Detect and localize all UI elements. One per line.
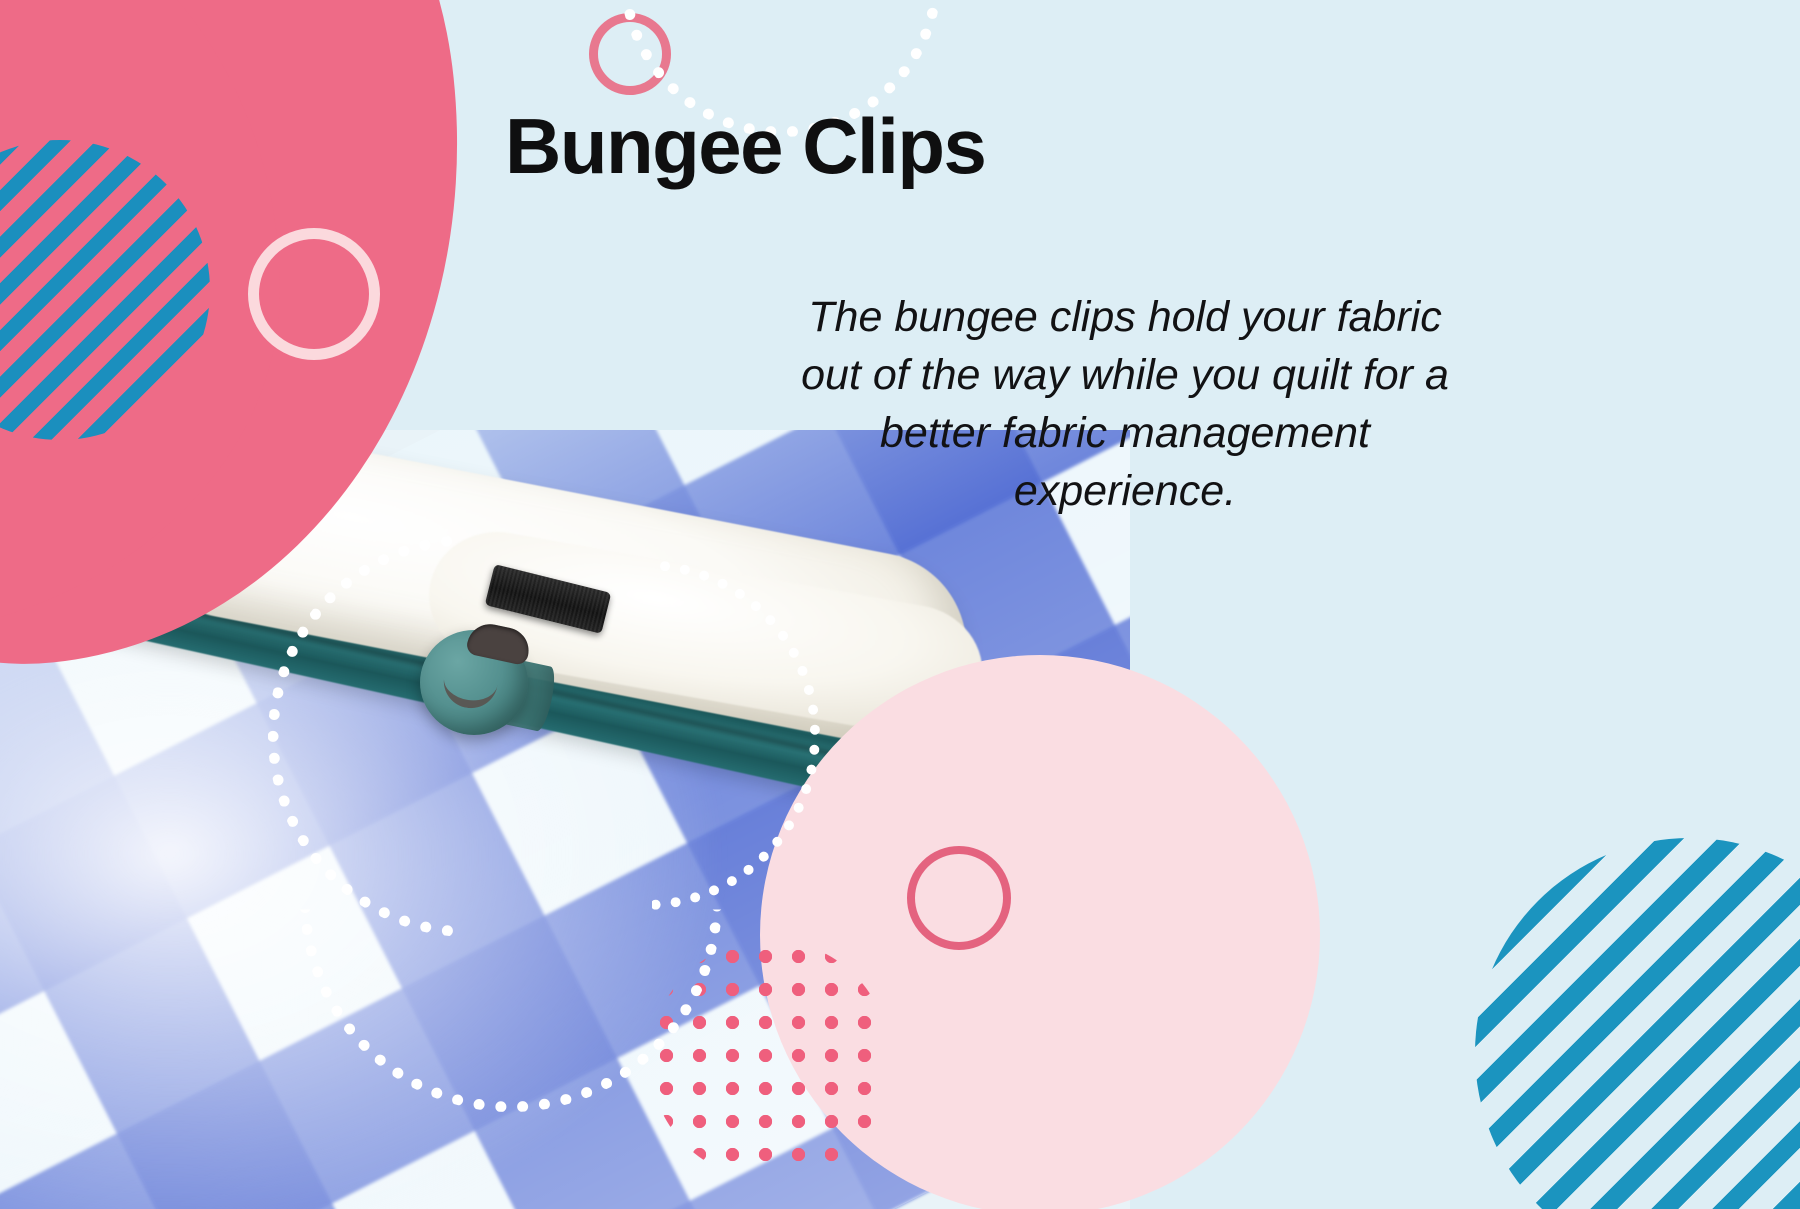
striped-circle-bottom-right: [1475, 838, 1800, 1209]
pale-pink-ring-icon: [248, 228, 380, 360]
description-text: The bungee clips hold your fabric out of…: [800, 288, 1450, 520]
pink-ring-lower-icon: [907, 846, 1011, 950]
slide-canvas: Bungee Clips The bungee clips hold your …: [0, 0, 1800, 1209]
page-title: Bungee Clips: [505, 107, 985, 185]
